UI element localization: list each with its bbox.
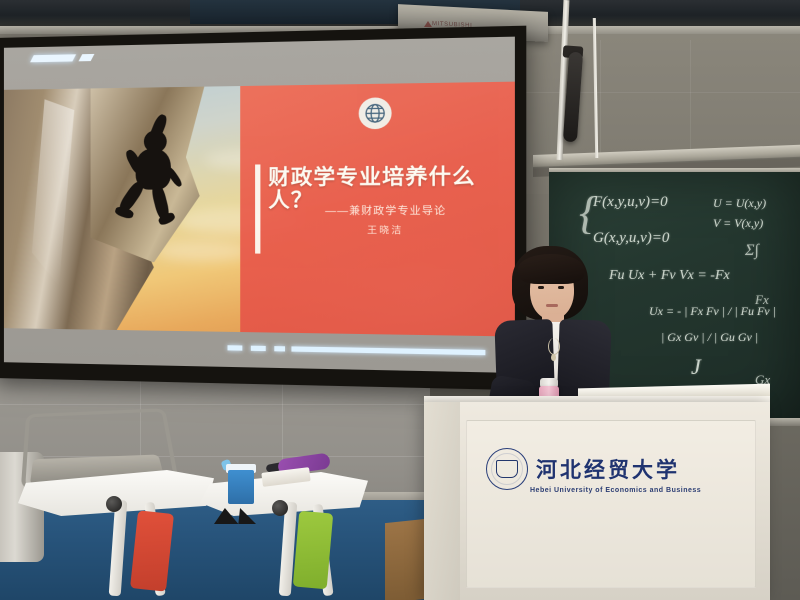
cloud bbox=[156, 241, 251, 262]
chalk-line: | Gx Gv | / | Gu Gv | bbox=[661, 330, 758, 345]
university-name-cn: 河北经贸大学 bbox=[536, 454, 680, 484]
slide-mark-icon bbox=[78, 54, 94, 61]
slide-mark-icon bbox=[30, 54, 76, 62]
chalk-line: U = U(x,y) bbox=[713, 196, 766, 211]
eye bbox=[538, 286, 544, 289]
projection-screen: 财政学专业培养什么人？ ——兼财政学专业导论 王晓洁 bbox=[0, 26, 526, 391]
slide-footer bbox=[4, 330, 515, 366]
title-accent-bar bbox=[256, 164, 261, 253]
wall-seam bbox=[600, 40, 601, 160]
classroom-photo: MITSUBISHI bbox=[0, 0, 800, 600]
climber-silhouette bbox=[113, 114, 188, 239]
chair-seat-green bbox=[293, 511, 333, 590]
slide-subtitle: ——兼财政学专业导论 bbox=[268, 202, 505, 218]
university-crest-icon bbox=[486, 448, 528, 490]
desk-wheel bbox=[106, 496, 122, 512]
pendant bbox=[551, 354, 556, 361]
chalk-line: V = V(x,y) bbox=[713, 216, 763, 231]
mitsubishi-logo-icon bbox=[424, 21, 432, 27]
chalk-line: J bbox=[691, 354, 701, 380]
globe-icon bbox=[359, 97, 392, 129]
eye bbox=[558, 286, 564, 289]
tile-seam bbox=[0, 404, 430, 405]
slide-canvas: 财政学专业培养什么人？ ——兼财政学专业导论 王晓洁 bbox=[4, 82, 515, 337]
wall-seam bbox=[690, 40, 691, 158]
desk-wheel bbox=[272, 500, 288, 516]
tissue-box bbox=[228, 470, 254, 504]
mouth bbox=[546, 304, 558, 307]
chalk-brace: { bbox=[579, 186, 597, 239]
slide-presenter-name: 王晓洁 bbox=[268, 223, 505, 237]
screen-surface: 财政学专业培养什么人？ ——兼财政学专业导论 王晓洁 bbox=[4, 37, 515, 373]
chalk-line: Fu Ux + Fv Vx = -Fx bbox=[609, 268, 730, 284]
crest-mark bbox=[496, 460, 518, 478]
university-logo: 河北经贸大学 bbox=[486, 448, 680, 490]
university-name-en: Hebei University of Economics and Busine… bbox=[530, 487, 701, 494]
slide-title-block: 财政学专业培养什么人？ ——兼财政学专业导论 王晓洁 bbox=[241, 82, 515, 337]
hair-fringe bbox=[518, 254, 584, 284]
chalk-line: G(x,y,u,v)=0 bbox=[593, 230, 669, 247]
slide: 财政学专业培养什么人？ ——兼财政学专业导论 王晓洁 bbox=[4, 37, 515, 373]
podium-side bbox=[424, 402, 460, 600]
necklace bbox=[548, 338, 560, 355]
chalk-scribble: Σ∫ bbox=[745, 242, 759, 260]
chalk-scribble: Fx bbox=[755, 292, 769, 308]
chalk-line: F(x,y,u,v)=0 bbox=[593, 194, 668, 211]
podium-front-panel bbox=[466, 420, 756, 588]
